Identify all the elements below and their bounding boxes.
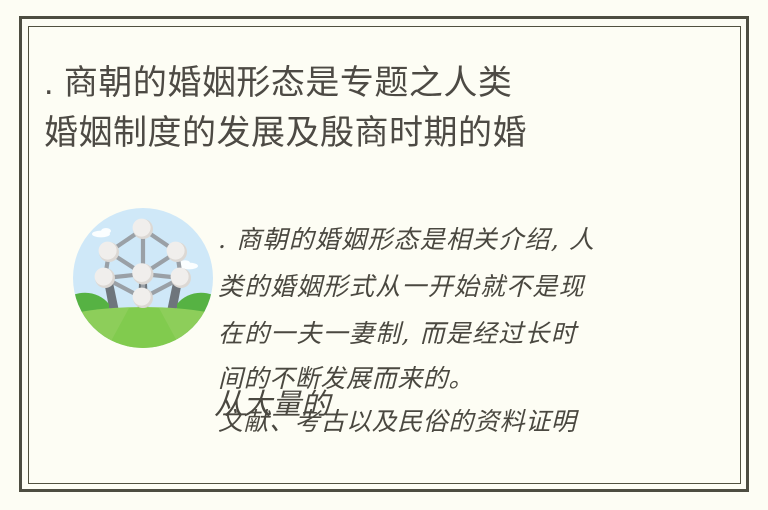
atomium-monument-icon: [73, 204, 213, 356]
body-leading-dot: .: [218, 225, 227, 254]
body-line-5: 从大量的文献、考古以及民俗的资料证明: [218, 400, 648, 443]
title-leading-dot: .: [44, 58, 54, 108]
body-line-1-text: 商朝的婚姻形态是相关介绍, 人: [236, 225, 595, 254]
article-body: . 商朝的婚姻形态是相关介绍, 人 类的婚姻形式从一开始就不是现 在的一夫一妻制…: [218, 216, 648, 443]
title-line-2: 婚姻制度的发展及殷商时期的婚: [44, 108, 644, 158]
article-page: . 商朝的婚姻形态是专题之人类 婚姻制度的发展及殷商时期的婚: [0, 0, 768, 510]
body-line-3: 在的一夫一妻制, 而是经过长时: [218, 310, 648, 357]
body-overlay-text: 从大量的: [214, 383, 330, 426]
page-title: . 商朝的婚姻形态是专题之人类 婚姻制度的发展及殷商时期的婚: [44, 58, 644, 158]
body-line-2: 类的婚姻形式从一开始就不是现: [218, 263, 648, 310]
overlapping-text-group: 从大量的文献、考古以及民俗的资料证明: [218, 400, 576, 443]
title-line-1: . 商朝的婚姻形态是专题之人类: [44, 58, 644, 108]
body-line-1: . 商朝的婚姻形态是相关介绍, 人: [218, 216, 648, 263]
title-line-1-text: 商朝的婚姻形态是专题之人类: [64, 64, 513, 102]
